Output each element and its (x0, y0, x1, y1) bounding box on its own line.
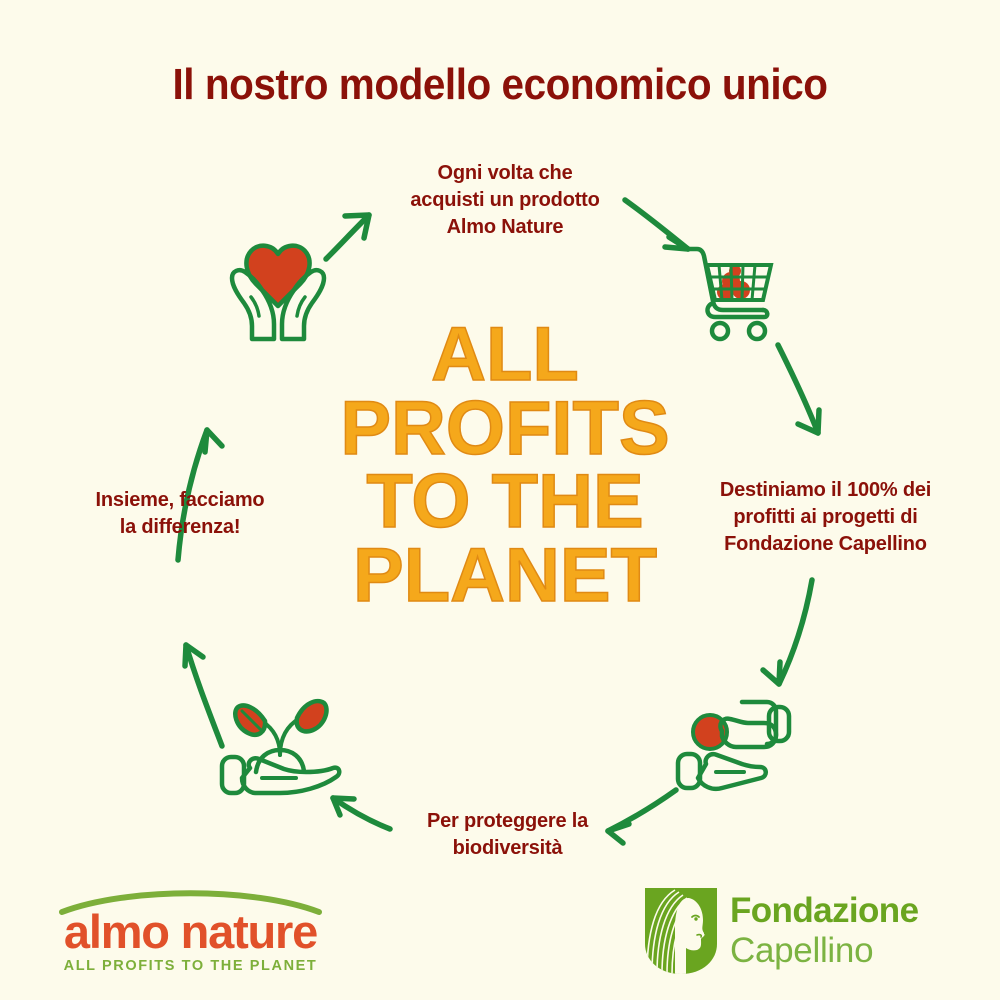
caption-profits-line1: Destiniamo il 100% dei (720, 479, 931, 501)
shopping-cart-icon (683, 238, 788, 343)
headline-line-3: TO THE (330, 465, 680, 539)
caption-purchase-line2: acquisti un prodotto (410, 189, 599, 211)
infographic-page: Il nostro modello economico unico (0, 0, 1000, 1000)
fondazione-line-1: Fondazione (730, 892, 918, 931)
hands-holding-heart-icon (218, 238, 338, 343)
arrow-cart-to-donate (778, 345, 818, 433)
caption-profits-line3: Fondazione Capellino (724, 533, 927, 555)
center-headline: ALL PROFITS TO THE PLANET (330, 318, 680, 613)
almo-nature-tagline: ALL PROFITS TO THE PLANET (58, 959, 323, 974)
arrow-donate-to-coin (779, 580, 812, 684)
page-title: Il nostro modello economico unico (40, 60, 960, 110)
caption-together-line2: la differenza! (120, 516, 241, 538)
caption-purchase: Ogni volta che acquisti un prodotto Almo… (355, 160, 655, 241)
caption-together-line1: Insieme, facciamo (96, 489, 265, 511)
headline-line-4: PLANET (330, 539, 680, 613)
caption-biodiversity-line2: biodiversità (453, 837, 563, 859)
almo-nature-logo: almo nature ALL PROFITS TO THE PLANET (58, 886, 323, 978)
headline-line-2: PROFITS (330, 392, 680, 466)
fondazione-capellino-logo: Fondazione Capellino (645, 888, 945, 976)
woman-profile-shield-icon (645, 888, 717, 974)
caption-purchase-line3: Almo Nature (447, 216, 564, 238)
headline-line-1: ALL (330, 318, 680, 392)
caption-profits-line2: profitti ai progetti di (733, 506, 917, 528)
almo-nature-wordmark: almo nature (58, 908, 323, 955)
caption-together: Insieme, facciamo la differenza! (55, 487, 305, 541)
hand-holding-sprout-icon (218, 685, 343, 800)
arrow-plant-to-together (186, 645, 222, 746)
caption-biodiversity: Per proteggere la biodiversità (375, 808, 640, 862)
caption-profits: Destiniamo il 100% dei profitti ai proge… (693, 477, 958, 558)
caption-purchase-line1: Ogni volta che (437, 162, 572, 184)
fondazione-line-2: Capellino (730, 932, 873, 971)
hand-giving-coin-icon (672, 692, 797, 797)
caption-biodiversity-line1: Per proteggere la (427, 810, 588, 832)
